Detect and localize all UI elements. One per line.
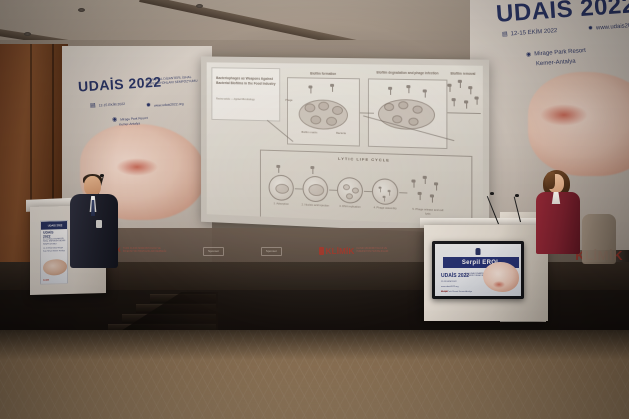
cycle-cell-4: [372, 178, 398, 205]
cycle-step-3: 3. DNA replication: [335, 205, 365, 210]
speaker-badge: [96, 220, 102, 228]
banner-left-web: www.udais2022.org: [154, 102, 184, 108]
bacterium: [412, 105, 422, 113]
phage-icon: [406, 85, 410, 93]
panel-connector: [447, 112, 480, 113]
phage-icon: [411, 179, 415, 187]
monitor-web: www.udais2022.org: [441, 286, 491, 289]
phage-icon: [434, 182, 438, 190]
conference-hall-photo: UDAİS 2022 III. ULUSAL DİSANTERİ, İSHAL …: [0, 0, 629, 419]
ceiling-spotlight: [78, 8, 85, 12]
globe-icon: ✹: [588, 26, 593, 32]
bacterium: [384, 103, 394, 111]
banner-left-date: 12-15 EKİM 2022: [99, 102, 126, 108]
cycle-cell-1: [269, 174, 294, 201]
bacterium: [326, 117, 337, 126]
phage-icon: [330, 84, 334, 92]
bacterium: [398, 101, 408, 109]
desk-microphone-head-1: [490, 192, 494, 195]
rash-detail: [116, 158, 158, 176]
slide-title: Bacteriophages as Weapons Against Bacter…: [216, 76, 277, 86]
cycle-step-4: 4. Phage assembly: [370, 206, 400, 211]
speaker-person: [60, 176, 130, 276]
phage-icon: [418, 192, 422, 200]
phage-icon: [308, 85, 312, 93]
bacterium: [318, 102, 329, 111]
banner-left-web-row: ✹ www.udais2022.org: [146, 101, 184, 109]
bacterium: [392, 115, 402, 123]
banner-right-date-row: ▤ 12-15 EKİM 2022: [502, 28, 558, 38]
panel-label-2: Biofilm degradation and phage infection: [366, 70, 450, 75]
monitor-screen: Serpil EROL UDAİS 2022 III. ULUSAL DİSAN…: [435, 244, 521, 296]
calendar-icon: ▤: [502, 32, 508, 38]
cycle-step-5: 5. Phage release and cell lysis: [409, 208, 446, 217]
panel-label-1: Biofilm formation: [287, 71, 360, 76]
banner-right-web: www.udais2022.org: [596, 22, 629, 32]
ceiling-spotlight: [24, 32, 31, 36]
phage-icon: [423, 89, 427, 97]
moderator-person: [530, 172, 620, 272]
speaker-head: [84, 176, 101, 196]
panel-connector: [360, 112, 374, 113]
monitor-footer: KLİMİK: [441, 291, 448, 293]
slide-authors: Review article — Applied Microbiology: [216, 98, 275, 103]
projected-slide: Bacteriophages as Weapons Against Bacter…: [207, 62, 483, 226]
globe-icon: ✹: [146, 103, 151, 109]
calendar-icon: ▤: [90, 103, 96, 109]
monitor-rash-detail: [493, 281, 505, 288]
phage-icon: [423, 176, 427, 184]
udais-logo-icon: [476, 248, 481, 255]
cycle-step-2: 2. Nucleic acid injection: [301, 203, 330, 208]
cycle-connector: [364, 191, 372, 192]
klimik-mark-icon: [319, 247, 324, 255]
phage-icon: [458, 80, 462, 88]
location-pin-icon: ◉: [526, 52, 532, 58]
sponsor-box-2: Sponsor: [261, 247, 282, 256]
phage-icon: [474, 96, 478, 104]
banner-right-venue-city: Kemer-Antalya: [536, 59, 576, 69]
phage-icon: [310, 166, 314, 174]
banner-left-date-row: ▤ 12-15 EKİM 2022: [90, 101, 125, 109]
confidence-monitor[interactable]: Serpil EROL UDAİS 2022 III. ULUSAL DİSAN…: [432, 241, 524, 299]
panel-1-axis: Phage: [281, 99, 297, 103]
lytic-cycle-box: LYTIC LIFE CYCLE 1. Adsorption 2. Nuclei…: [260, 150, 472, 227]
cycle-cell-3: [337, 177, 363, 204]
moderator-chair: [582, 214, 616, 264]
slide-header-block: Bacteriophages as Weapons Against Bacter…: [211, 67, 280, 121]
phage-icon: [388, 87, 392, 95]
banner-right-venue-row: ◉ Mirage Park Resort: [526, 48, 586, 58]
hands-artwork: [528, 72, 629, 176]
bacterium: [408, 118, 418, 126]
bacterium: [305, 103, 316, 112]
sponsor-logo-klimik-secondary: KLİMİK KLİNİK MİKROBİYOLOJİ VE İNFEKSİYO…: [319, 247, 389, 256]
ceiling-spotlight: [196, 4, 203, 8]
location-pin-icon: ◉: [112, 117, 118, 123]
sponsor-name: KLİMİK: [326, 247, 355, 256]
phage-icon: [468, 86, 472, 94]
bacterium: [332, 106, 343, 115]
phage-icon: [452, 98, 456, 106]
cycle-connector: [399, 192, 407, 193]
cycle-cell-2: [303, 176, 329, 203]
banner-right-web-row: ✹ www.udais2022.org: [588, 22, 629, 32]
moderator-hair-front: [545, 172, 555, 189]
projection-screen: Bacteriophages as Weapons Against Bacter…: [201, 56, 489, 234]
phage-icon: [464, 100, 468, 108]
banner-right-date: 12-15 EKİM 2022: [511, 28, 558, 37]
rash-detail: [540, 104, 588, 126]
cycle-connector: [295, 188, 303, 189]
phage-icon: [447, 84, 451, 92]
phage-icon: [276, 165, 280, 173]
panel-label-3: Biofilm removal: [439, 71, 483, 76]
lytic-cycle-title: LYTIC LIFE CYCLE: [261, 154, 471, 166]
bacterium: [310, 115, 321, 124]
desk-microphone-head-2: [515, 194, 519, 197]
panel-1-caption-a: Biofilm matrix: [295, 131, 324, 135]
cycle-step-1: 1. Adsorption: [267, 202, 296, 207]
phage-icon: [430, 194, 434, 202]
cycle-connector: [329, 190, 337, 191]
sponsor-box-1: Sponsor: [203, 247, 224, 256]
sponsor-tagline: KLİNİK MİKROBİYOLOJİ VE İNFEKSİYON HASTA…: [356, 248, 388, 254]
podium-banner-footer: KLİMİK: [43, 279, 67, 282]
floor-shadow: [0, 330, 629, 360]
banner-right-venue: Mirage Park Resort: [534, 48, 586, 58]
